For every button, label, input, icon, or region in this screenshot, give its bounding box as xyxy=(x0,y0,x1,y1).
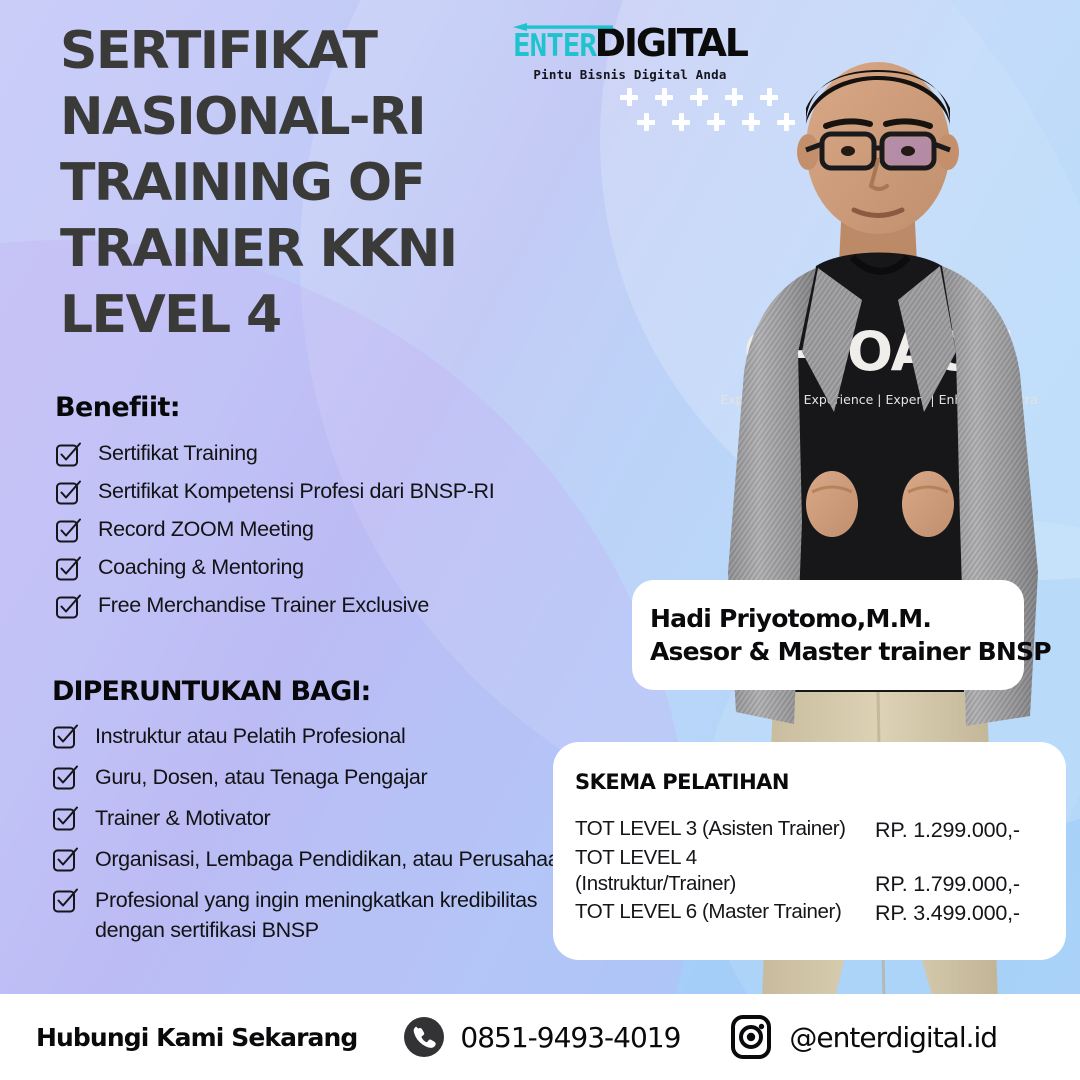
list-item: Coaching & Mentoring xyxy=(55,553,615,582)
table-row: TOT LEVEL 3 (Asisten Trainer) RP. 1.299.… xyxy=(575,816,1066,843)
phone-contact[interactable]: 0851-9493-4019 xyxy=(403,1016,680,1058)
list-item-label: Free Merchandise Trainer Exclusive xyxy=(98,591,429,619)
checkbox-checked-icon xyxy=(52,847,78,873)
price-label: TOT LEVEL 3 (Asisten Trainer) xyxy=(575,816,875,842)
checkbox-checked-icon xyxy=(55,556,81,582)
checkbox-checked-icon xyxy=(52,888,78,914)
list-item: Record ZOOM Meeting xyxy=(55,515,615,544)
list-item: Trainer & Motivator xyxy=(52,803,612,833)
list-item-label: Guru, Dosen, atau Tenaga Pengajar xyxy=(95,762,427,792)
target-audience-section: DIPERUNTUKAN BAGI: Instruktur atau Pelat… xyxy=(52,676,612,956)
price-amount: RP. 1.799.000,- xyxy=(875,845,1020,897)
headline-line: TRAINING OF xyxy=(60,150,580,216)
checkbox-checked-icon xyxy=(55,480,81,506)
contact-cta-label: Hubungi Kami Sekarang xyxy=(36,1023,357,1052)
headline-line: SERTIFIKAT xyxy=(60,18,580,84)
checkbox-checked-icon xyxy=(55,442,81,468)
footer-contact-bar: Hubungi Kami Sekarang 0851-9493-4019 @en… xyxy=(0,994,1080,1080)
plus-icon xyxy=(655,88,673,106)
list-item-label: Profesional yang ingin meningkatkan kred… xyxy=(95,885,612,945)
price-label-line2: (Instruktur/Trainer) xyxy=(575,871,875,897)
list-item: Organisasi, Lembaga Pendidikan, atau Per… xyxy=(52,844,612,874)
page-title: SERTIFIKAT NASIONAL-RI TRAINING OF TRAIN… xyxy=(60,18,580,348)
benefit-title: Benefiit: xyxy=(55,392,615,423)
list-item: Sertifikat Training xyxy=(55,439,615,468)
target-audience-title: DIPERUNTUKAN BAGI: xyxy=(52,676,612,707)
list-item-label: Sertifikat Training xyxy=(98,439,257,467)
checkbox-checked-icon xyxy=(52,765,78,791)
list-item: Instruktur atau Pelatih Profesional xyxy=(52,721,612,751)
logo-digital-text: DIGITAL xyxy=(595,24,747,62)
poster-canvas: G-COACH Exploration | Experience | Exper… xyxy=(0,0,1080,1080)
list-item-label: Sertifikat Kompetensi Profesi dari BNSP-… xyxy=(98,477,494,505)
list-item-label: Coaching & Mentoring xyxy=(98,553,304,581)
list-item-label: Instruktur atau Pelatih Profesional xyxy=(95,721,405,751)
plus-icon xyxy=(637,113,655,131)
instagram-contact[interactable]: @enterdigital.id xyxy=(728,1014,997,1060)
table-row: TOT LEVEL 4 (Instruktur/Trainer) RP. 1.7… xyxy=(575,845,1066,897)
plus-row-bottom xyxy=(637,113,795,131)
pricing-title: SKEMA PELATIHAN xyxy=(575,770,1066,794)
phone-icon xyxy=(403,1016,445,1058)
price-amount: RP. 1.299.000,- xyxy=(875,816,1020,843)
plus-decoration-group xyxy=(620,88,795,138)
list-item: Free Merchandise Trainer Exclusive xyxy=(55,591,615,620)
plus-icon xyxy=(620,88,638,106)
headline-line: TRAINER KKNI xyxy=(60,216,580,282)
pricing-card: SKEMA PELATIHAN TOT LEVEL 3 (Asisten Tra… xyxy=(553,742,1066,960)
list-item: Profesional yang ingin meningkatkan kred… xyxy=(52,885,612,945)
price-label: TOT LEVEL 6 (Master Trainer) xyxy=(575,899,875,925)
checkbox-checked-icon xyxy=(52,724,78,750)
instagram-icon xyxy=(728,1014,774,1060)
plus-icon xyxy=(690,88,708,106)
price-amount: RP. 3.499.000,- xyxy=(875,899,1020,926)
list-item-label: Record ZOOM Meeting xyxy=(98,515,314,543)
benefit-list: Sertifikat Training Sertifikat Kompetens… xyxy=(55,439,615,620)
benefit-section: Benefiit: Sertifikat Training Sertifikat… xyxy=(55,392,615,629)
headline-line: LEVEL 4 xyxy=(60,282,580,348)
target-audience-list: Instruktur atau Pelatih Profesional Guru… xyxy=(52,721,612,945)
list-item: Sertifikat Kompetensi Profesi dari BNSP-… xyxy=(55,477,615,506)
speaker-role: Asesor & Master trainer BNSP xyxy=(650,635,1024,668)
price-label-line1: TOT LEVEL 4 xyxy=(575,845,875,871)
phone-number: 0851-9493-4019 xyxy=(460,1021,680,1054)
checkbox-checked-icon xyxy=(52,806,78,832)
checkbox-checked-icon xyxy=(55,594,81,620)
plus-row-top xyxy=(620,88,795,106)
speaker-name-card: Hadi Priyotomo,M.M. Asesor & Master trai… xyxy=(632,580,1024,690)
list-item: Guru, Dosen, atau Tenaga Pengajar xyxy=(52,762,612,792)
checkbox-checked-icon xyxy=(55,518,81,544)
plus-icon xyxy=(742,113,760,131)
table-row: TOT LEVEL 6 (Master Trainer) RP. 3.499.0… xyxy=(575,899,1066,926)
plus-icon xyxy=(725,88,743,106)
plus-icon xyxy=(760,88,778,106)
headline-line: NASIONAL-RI xyxy=(60,84,580,150)
plus-icon xyxy=(672,113,690,131)
price-label: TOT LEVEL 4 (Instruktur/Trainer) xyxy=(575,845,875,897)
speaker-name: Hadi Priyotomo,M.M. xyxy=(650,602,1024,635)
list-item-label: Trainer & Motivator xyxy=(95,803,270,833)
plus-icon xyxy=(777,113,795,131)
list-item-label: Organisasi, Lembaga Pendidikan, atau Per… xyxy=(95,844,571,874)
plus-icon xyxy=(707,113,725,131)
instagram-handle: @enterdigital.id xyxy=(789,1021,997,1054)
